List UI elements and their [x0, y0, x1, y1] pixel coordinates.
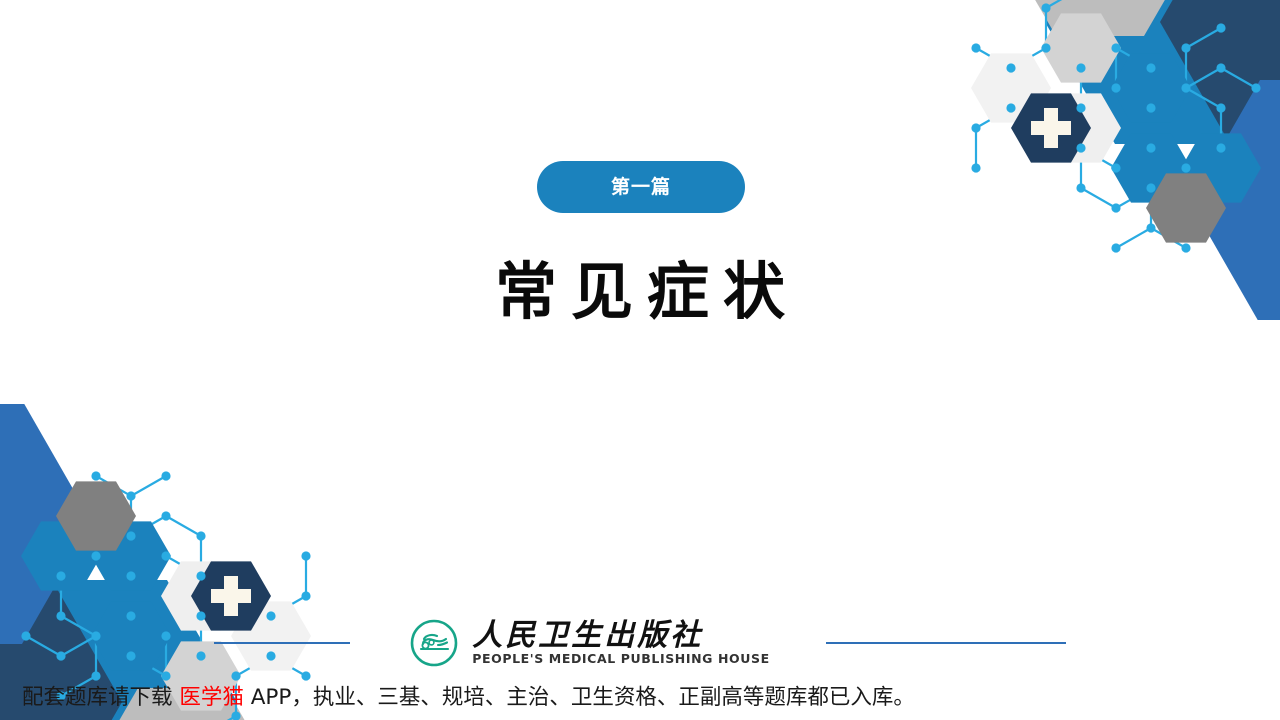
publisher-emblem-icon — [408, 617, 460, 669]
divider-line-right — [826, 642, 1066, 644]
publisher-logo: 人民卫生出版社 PEOPLE'S MEDICAL PUBLISHING HOUS… — [408, 617, 770, 669]
slide-canvas: 第一篇 常见症状 人民卫生出版 — [0, 0, 1280, 720]
molecule-nodes — [971, 0, 1260, 253]
divider-line-left — [214, 642, 350, 644]
hexagon-tiles — [971, 13, 1261, 242]
publisher-text-block: 人民卫生出版社 PEOPLE'S MEDICAL PUBLISHING HOUS… — [472, 621, 770, 666]
bottom-caption: 配套题库请下载 医学猫 APP，执业、三基、规培、主治、卫生资格、正副高等题库都… — [22, 685, 915, 712]
page-title: 常见症状 — [0, 258, 1280, 326]
molecule-bonds — [26, 476, 306, 720]
publisher-logo-band: 人民卫生出版社 PEOPLE'S MEDICAL PUBLISHING HOUS… — [0, 612, 1280, 674]
caption-lead: 配套题库请下载 — [22, 685, 179, 710]
publisher-name-cn: 人民卫生出版社 — [472, 621, 770, 651]
medical-cross-icon — [1011, 93, 1091, 162]
hexagon-tiles — [21, 481, 311, 710]
chapter-badge-label: 第一篇 — [611, 178, 671, 197]
caption-tail: APP，执业、三基、规培、主治、卫生资格、正副高等题库都已入库。 — [244, 685, 915, 710]
molecule-nodes — [21, 471, 310, 720]
chapter-badge: 第一篇 — [537, 161, 745, 213]
publisher-name-en: PEOPLE'S MEDICAL PUBLISHING HOUSE — [472, 653, 770, 666]
caption-highlight: 医学猫 — [179, 685, 244, 710]
molecule-bonds — [976, 0, 1256, 248]
